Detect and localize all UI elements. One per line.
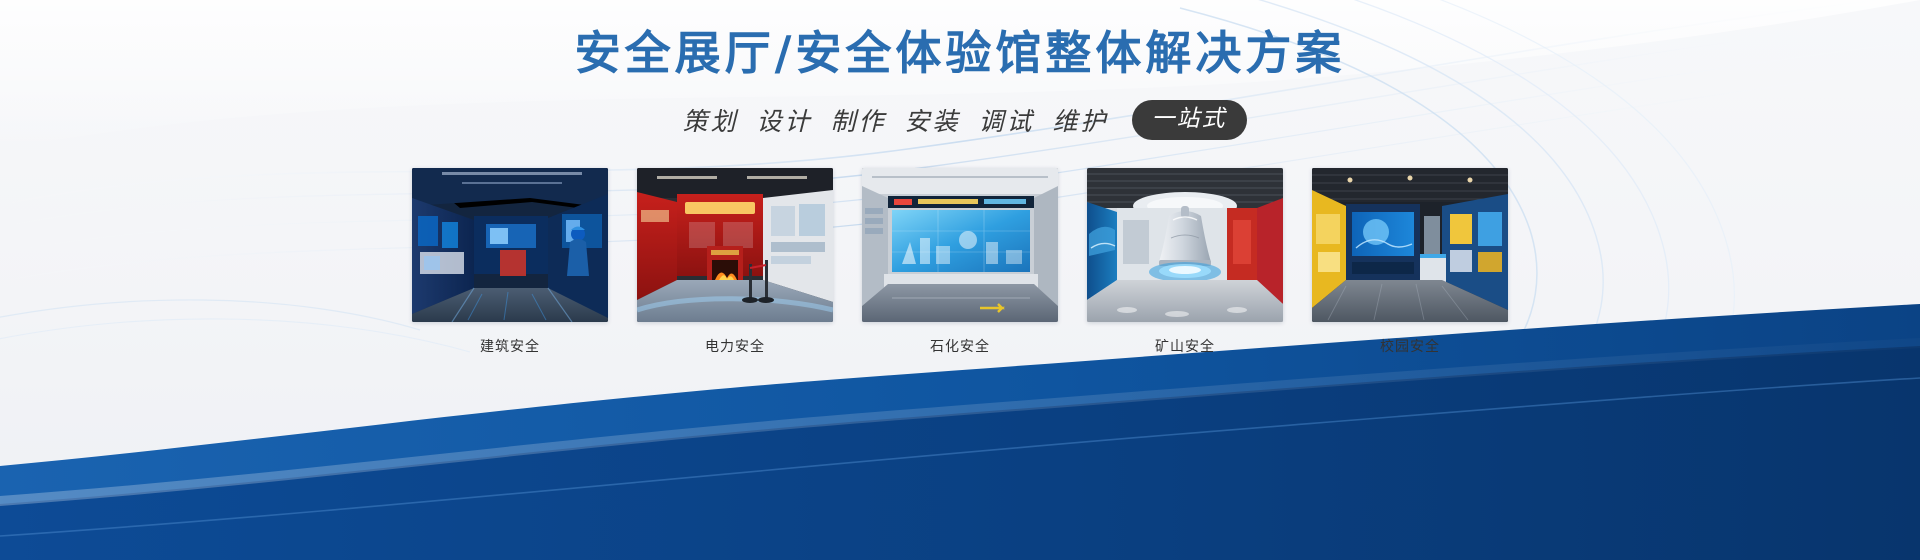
service-step-planning: 策划: [673, 102, 747, 138]
exhibition-hall-campus-icon[interactable]: [1312, 168, 1508, 322]
title-block: 安全展厅/安全体验馆整体解决方案: [0, 26, 1920, 81]
service-step-debugging: 调试: [970, 102, 1044, 138]
gallery-card-caption: 校园安全: [1312, 336, 1508, 356]
gallery-card[interactable]: 校园安全: [1312, 168, 1508, 356]
exhibition-hall-construction-icon[interactable]: [412, 168, 608, 322]
one-stop-badge: 一站式: [1132, 100, 1247, 140]
gallery-card[interactable]: 石化安全: [862, 168, 1058, 356]
gallery-card[interactable]: 建筑安全: [412, 168, 608, 356]
gallery-card-caption: 石化安全: [862, 336, 1058, 356]
service-step-maintenance: 维护: [1044, 102, 1118, 138]
promotional-banner: 安全展厅/安全体验馆整体解决方案 策划 设计 制作 安装 调试 维护 一站式: [0, 0, 1920, 560]
exhibition-hall-electric-icon[interactable]: [637, 168, 833, 322]
gallery-card[interactable]: 电力安全: [637, 168, 833, 356]
service-step-design: 设计: [747, 102, 821, 138]
exhibition-hall-mining-icon[interactable]: [1087, 168, 1283, 322]
exhibition-gallery: 建筑安全: [0, 168, 1920, 356]
gallery-card-caption: 建筑安全: [412, 336, 608, 356]
service-step-installation: 安装: [896, 102, 970, 138]
exhibition-hall-petrochemical-icon[interactable]: [862, 168, 1058, 322]
service-step-production: 制作: [821, 102, 895, 138]
gallery-card[interactable]: 矿山安全: [1087, 168, 1283, 356]
gallery-card-caption: 电力安全: [637, 336, 833, 356]
page-title: 安全展厅/安全体验馆整体解决方案: [0, 26, 1920, 81]
gallery-card-caption: 矿山安全: [1087, 336, 1283, 356]
service-steps: 策划 设计 制作 安装 调试 维护 一站式: [0, 100, 1920, 140]
